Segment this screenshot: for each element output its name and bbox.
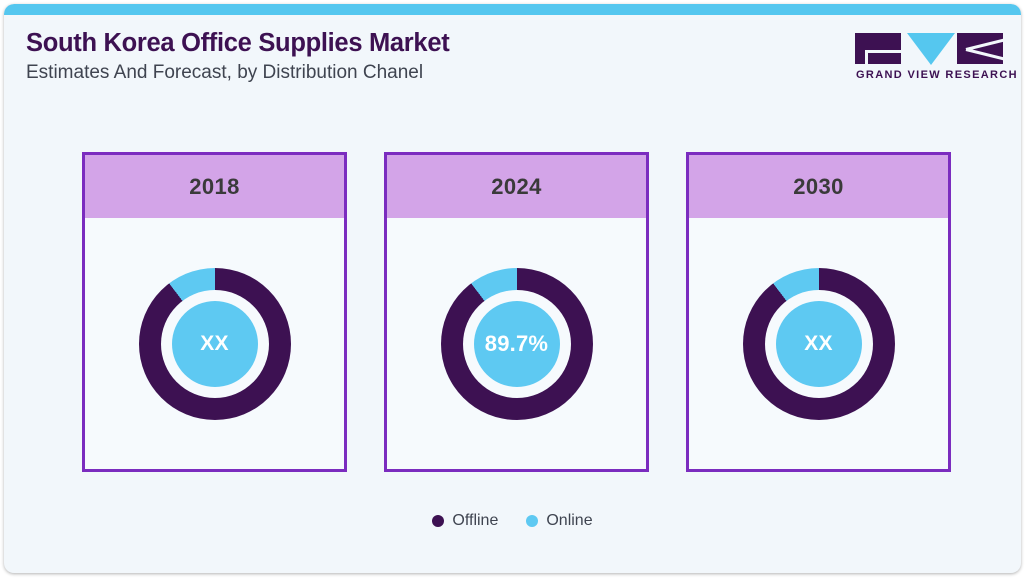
donut-chart-2018: XX [139, 268, 291, 420]
card-grid: 2018 XX 2024 [82, 152, 952, 472]
card-body: XX [85, 218, 344, 469]
card-body: XX [689, 218, 948, 469]
donut-center-label: 89.7% [485, 331, 548, 357]
donut-center-label: XX [200, 332, 228, 356]
card-header: 2030 [689, 155, 948, 218]
card-header: 2024 [387, 155, 646, 218]
legend-item-online: Online [526, 512, 592, 530]
donut-chart-2030: XX [743, 268, 895, 420]
year-card-2030: 2030 XX [686, 152, 951, 472]
page-title: South Korea Office Supplies Market [26, 29, 449, 58]
header: South Korea Office Supplies Market Estim… [4, 15, 1021, 101]
card-header: 2018 [85, 155, 344, 218]
chart-legend: Offline Online [4, 512, 1021, 530]
donut-center-circle: 89.7% [474, 301, 560, 387]
logo-marks [855, 33, 1003, 65]
logo-text: GRAND VIEW RESEARCH [856, 69, 1018, 81]
donut-center-label: XX [804, 332, 832, 356]
logo-r-icon [957, 33, 1003, 64]
legend-item-offline: Offline [432, 512, 498, 530]
year-card-2024: 2024 89.7% [384, 152, 649, 472]
legend-label: Offline [452, 512, 498, 530]
card-body: 89.7% [387, 218, 646, 469]
brand-logo: GRAND VIEW RESEARCH [855, 33, 1003, 86]
legend-dot-icon [432, 515, 444, 527]
page-subtitle: Estimates And Forecast, by Distribution … [26, 62, 423, 84]
legend-label: Online [546, 512, 592, 530]
top-accent-bar [4, 4, 1021, 15]
card-year-label: 2030 [793, 174, 844, 200]
donut-center-circle: XX [172, 301, 258, 387]
logo-g-icon [855, 33, 901, 64]
infographic-panel: South Korea Office Supplies Market Estim… [4, 4, 1021, 573]
legend-dot-icon [526, 515, 538, 527]
donut-chart-2024: 89.7% [441, 268, 593, 420]
donut-center-circle: XX [776, 301, 862, 387]
card-year-label: 2018 [189, 174, 240, 200]
year-card-2018: 2018 XX [82, 152, 347, 472]
logo-triangle-icon [907, 33, 955, 65]
card-year-label: 2024 [491, 174, 542, 200]
